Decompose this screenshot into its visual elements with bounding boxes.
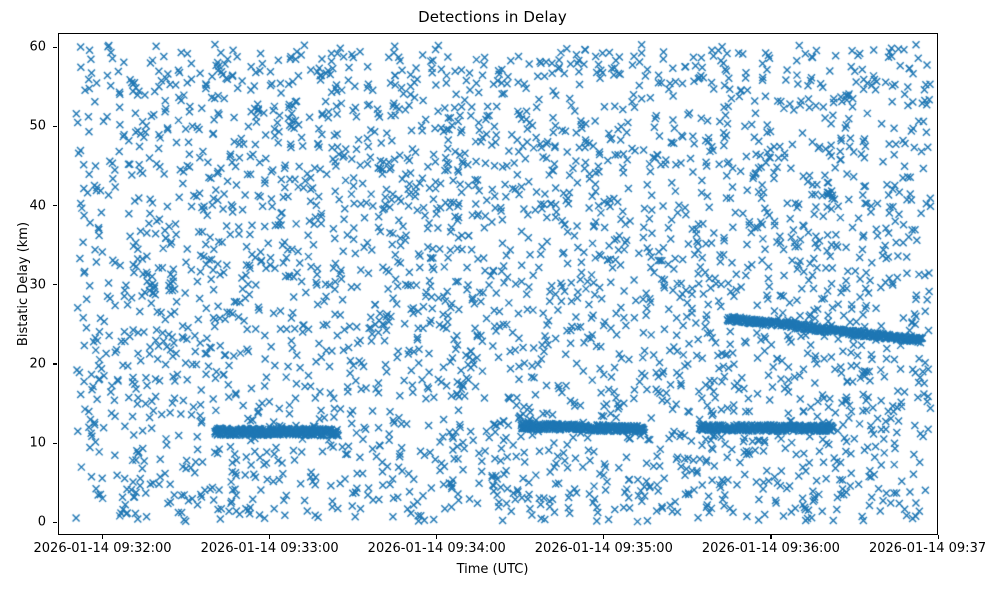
y-tick-mark	[53, 284, 57, 285]
y-tick-mark	[53, 443, 57, 444]
scatter-plot-canvas	[59, 34, 938, 535]
x-tick-label: 2026-01-14 09:34:00	[368, 541, 506, 556]
x-tick-label: 2026-01-14 09:35:00	[535, 541, 673, 556]
page-title: Detections in Delay	[0, 8, 985, 26]
x-tick-mark	[269, 535, 270, 539]
x-tick-mark	[938, 535, 939, 539]
y-tick-mark	[53, 205, 57, 206]
x-tick-label: 2026-01-14 09:33:00	[201, 541, 339, 556]
x-tick-mark	[102, 535, 103, 539]
x-tick-mark	[770, 535, 771, 539]
y-tick-mark	[53, 522, 57, 523]
x-tick-mark	[436, 535, 437, 539]
plot-area	[58, 33, 938, 535]
x-tick-label: 2026-01-14 09:37:00	[869, 541, 985, 556]
figure-canvas: Detections in Delay 2026-01-14 09:32:002…	[0, 0, 985, 590]
y-tick-mark	[53, 126, 57, 127]
x-tick-label: 2026-01-14 09:36:00	[702, 541, 840, 556]
x-tick-mark	[603, 535, 604, 539]
y-tick-mark	[53, 47, 57, 48]
x-axis-label: Time (UTC)	[0, 562, 985, 577]
y-tick-label: 0	[38, 515, 46, 530]
y-axis-label: Bistatic Delay (km)	[14, 33, 34, 535]
y-tick-mark	[53, 363, 57, 364]
x-tick-label: 2026-01-14 09:32:00	[34, 541, 172, 556]
